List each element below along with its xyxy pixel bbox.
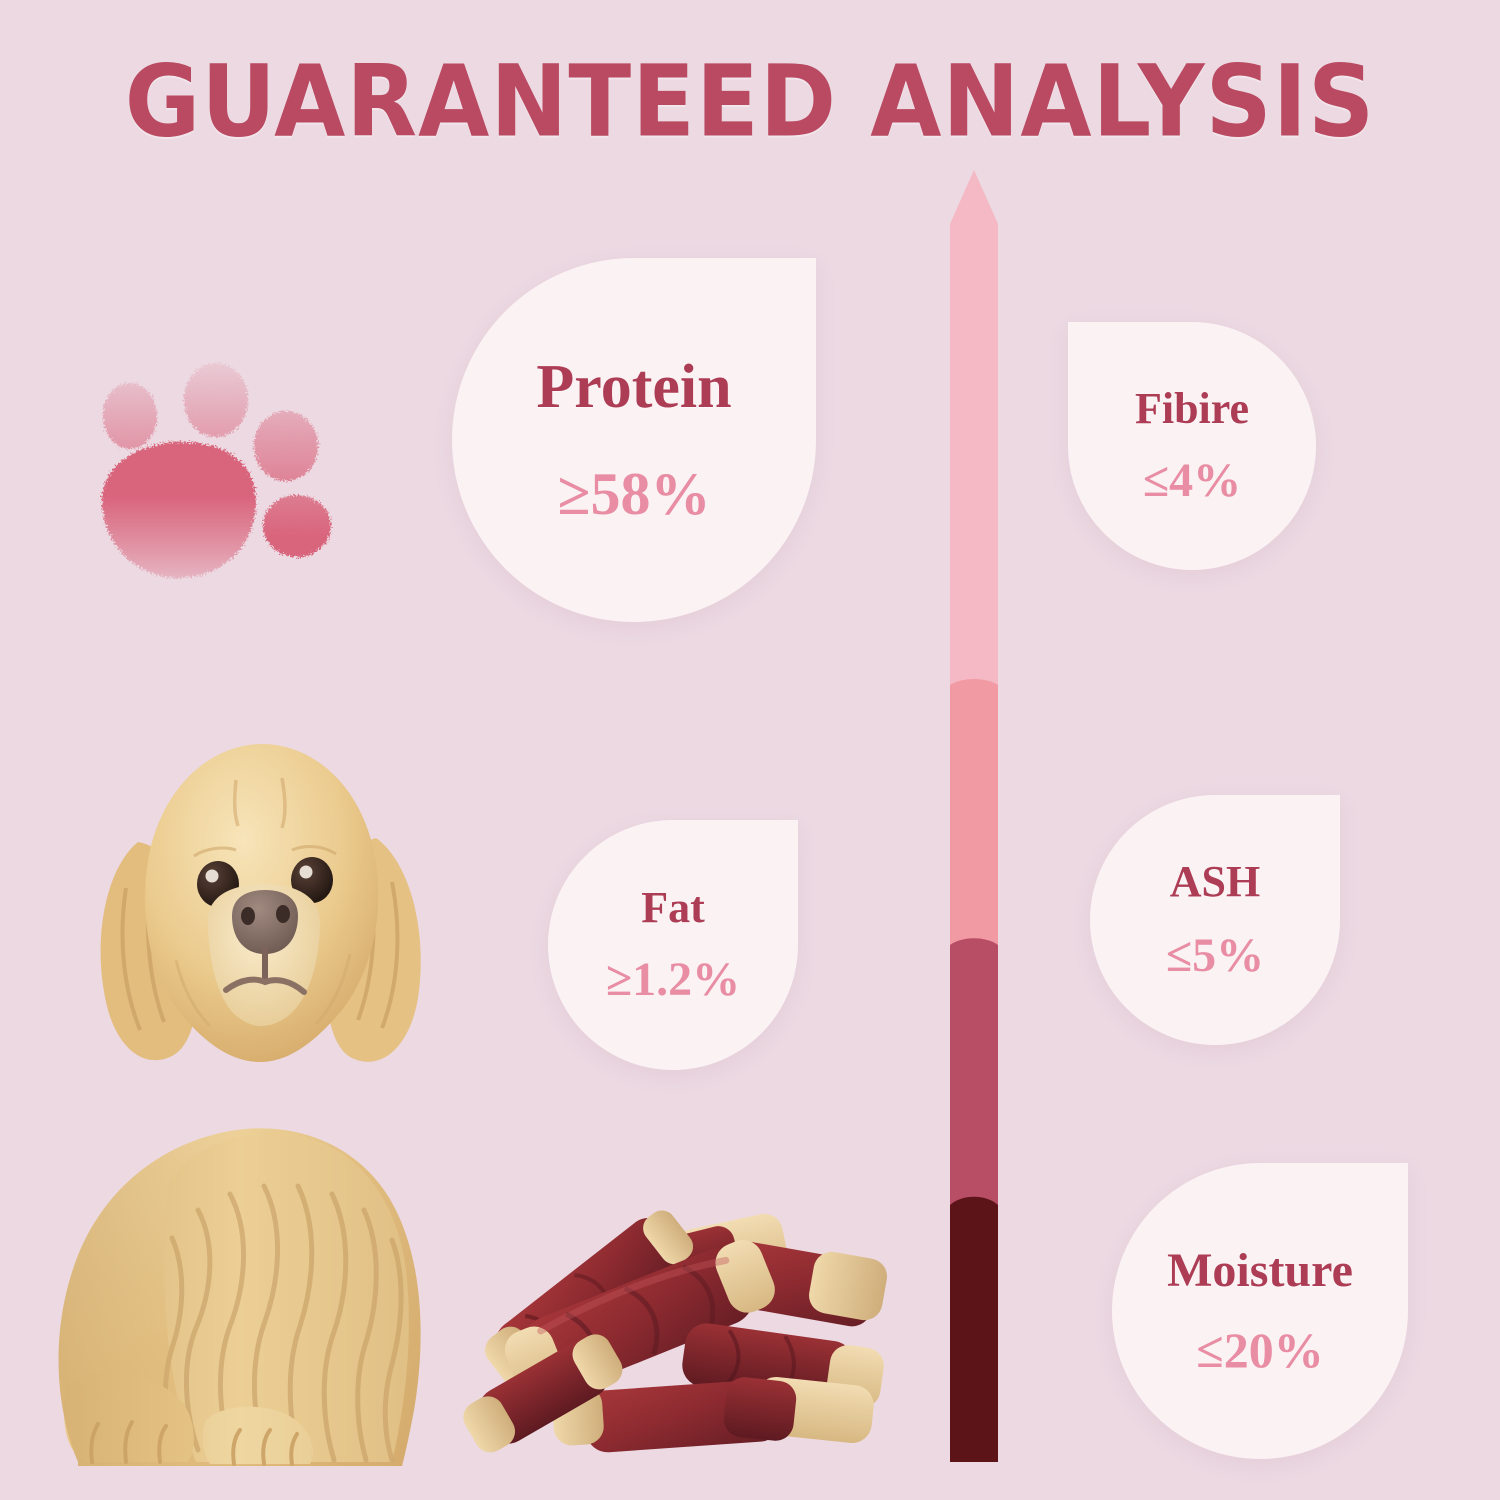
infographic-canvas: GUARANTEED ANALYSIS: [0, 0, 1500, 1500]
nutrient-value-fat: ≥1.2%: [606, 956, 740, 1004]
nutrient-label-ash: ASH: [1170, 860, 1260, 904]
nutrient-value-fibire: ≤4%: [1143, 457, 1241, 505]
nutrient-value-moisture: ≤20%: [1196, 1325, 1323, 1375]
nutrient-badge-fat[interactable]: Fat ≥1.2%: [548, 820, 798, 1070]
page-title: GUARANTEED ANALYSIS: [0, 44, 1500, 160]
wrapped-rawhide-treats-pile: [425, 1135, 895, 1485]
nutrient-label-protein: Protein: [536, 356, 731, 418]
paw-print-icon: [78, 338, 353, 613]
nutrient-badge-moisture[interactable]: Moisture ≤20%: [1112, 1163, 1408, 1459]
nutrient-badge-fibire[interactable]: Fibire ≤4%: [1068, 322, 1316, 570]
nutrient-badge-protein[interactable]: Protein ≥58%: [452, 258, 816, 622]
nutrient-badge-ash[interactable]: ASH ≤5%: [1090, 795, 1340, 1045]
nutrient-label-fibire: Fibire: [1135, 387, 1249, 431]
nutrient-value-protein: ≥58%: [558, 464, 711, 524]
nutrient-value-ash: ≤5%: [1166, 932, 1264, 980]
nutrient-gradient-arrow: [946, 168, 1002, 1466]
nutrient-label-moisture: Moisture: [1167, 1247, 1353, 1295]
nutrient-label-fat: Fat: [641, 886, 705, 930]
